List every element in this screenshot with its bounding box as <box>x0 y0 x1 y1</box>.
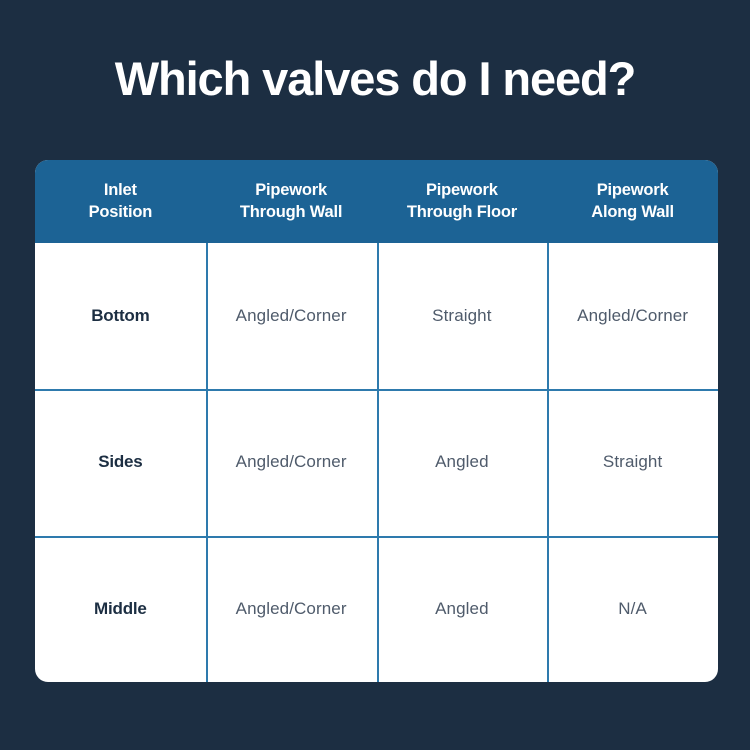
column-header-line-2: Through Wall <box>240 202 342 224</box>
cell-middle-along-wall: N/A <box>547 536 718 682</box>
cell-middle-through-wall: Angled/Corner <box>206 536 377 682</box>
row-label-bottom: Bottom <box>35 243 206 389</box>
cell-sides-through-wall: Angled/Corner <box>206 389 377 535</box>
column-header-line-1: Pipework <box>240 180 342 202</box>
valve-selection-table: Inlet Position Pipework Through Wall Pip… <box>35 160 718 682</box>
table-row: Middle Angled/Corner Angled N/A <box>35 536 718 682</box>
table-row: Bottom Angled/Corner Straight Angled/Cor… <box>35 243 718 389</box>
column-header-pipework-through-floor: Pipework Through Floor <box>377 160 548 243</box>
column-header-line-1: Pipework <box>407 180 517 202</box>
cell-bottom-along-wall: Angled/Corner <box>547 243 718 389</box>
row-label-sides: Sides <box>35 389 206 535</box>
page-title: Which valves do I need? <box>0 52 750 106</box>
table-row: Sides Angled/Corner Angled Straight <box>35 389 718 535</box>
column-header-inlet-position: Inlet Position <box>35 160 206 243</box>
cell-bottom-through-wall: Angled/Corner <box>206 243 377 389</box>
column-header-line-2: Along Wall <box>591 202 674 224</box>
cell-middle-through-floor: Angled <box>377 536 548 682</box>
column-header-pipework-through-wall: Pipework Through Wall <box>206 160 377 243</box>
row-label-middle: Middle <box>35 536 206 682</box>
cell-sides-through-floor: Angled <box>377 389 548 535</box>
column-header-line-2: Through Floor <box>407 202 517 224</box>
table-header-row: Inlet Position Pipework Through Wall Pip… <box>35 160 718 243</box>
column-header-pipework-along-wall: Pipework Along Wall <box>547 160 718 243</box>
column-header-line-1: Pipework <box>591 180 674 202</box>
column-header-line-1: Inlet <box>89 180 152 202</box>
cell-sides-along-wall: Straight <box>547 389 718 535</box>
table-body: Bottom Angled/Corner Straight Angled/Cor… <box>35 243 718 682</box>
infographic-page: Which valves do I need? Inlet Position P… <box>0 0 750 750</box>
cell-bottom-through-floor: Straight <box>377 243 548 389</box>
column-header-line-2: Position <box>89 202 152 224</box>
